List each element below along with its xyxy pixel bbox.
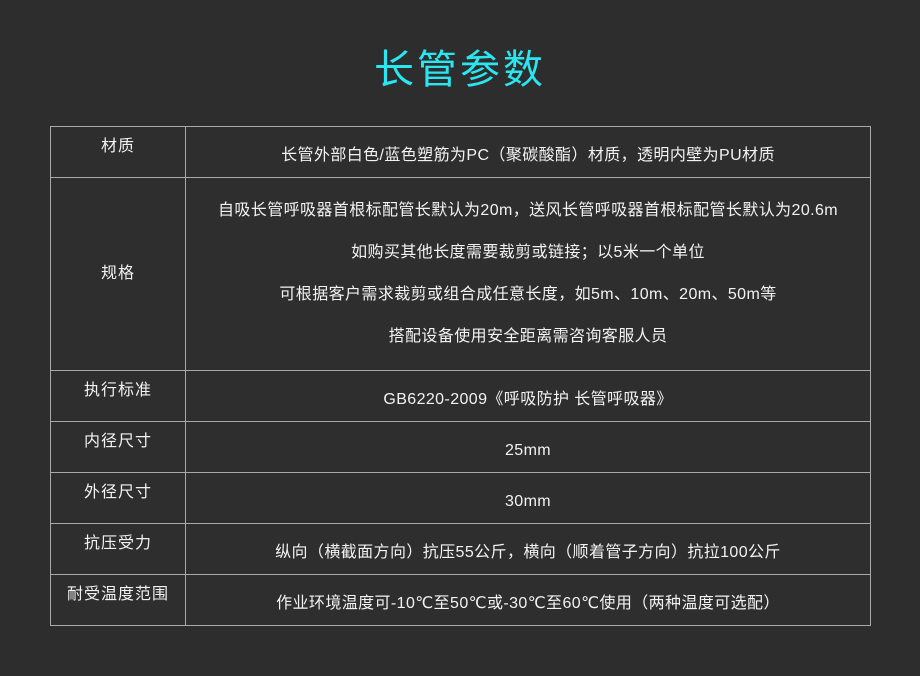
value-line: 如购买其他长度需要裁剪或链接；以5米一个单位: [196, 232, 860, 274]
row-label-cell: 材质: [51, 127, 186, 178]
row-value: 纵向（横截面方向）抗压55公斤，横向（顺着管子方向）抗拉100公斤: [186, 524, 870, 574]
value-line: 长管外部白色/蓝色塑筋为PC（聚碳酸酯）材质，透明内壁为PU材质: [200, 135, 856, 177]
row-value: 作业环境温度可-10℃至50℃或-30℃至60℃使用（两种温度可选配）: [186, 575, 870, 625]
row-value-cell: 30mm: [186, 473, 871, 524]
row-label: 抗压受力: [51, 524, 185, 574]
row-value-cell: GB6220-2009《呼吸防护 长管呼吸器》: [186, 371, 871, 422]
value-line: 搭配设备使用安全距离需咨询客服人员: [196, 316, 860, 358]
row-label: 耐受温度范围: [51, 575, 185, 625]
row-label: 外径尺寸: [51, 473, 185, 523]
row-label-cell: 外径尺寸: [51, 473, 186, 524]
row-value: 长管外部白色/蓝色塑筋为PC（聚碳酸酯）材质，透明内壁为PU材质: [186, 127, 870, 177]
table-row: 外径尺寸 30mm: [51, 473, 871, 524]
table-row: 耐受温度范围 作业环境温度可-10℃至50℃或-30℃至60℃使用（两种温度可选…: [51, 575, 871, 626]
product-spec-page: 长管参数 材质 长管外部白色/蓝色塑筋为PC（聚碳酸酯）材质，透明内壁为PU材质…: [0, 0, 920, 676]
value-line: 纵向（横截面方向）抗压55公斤，横向（顺着管子方向）抗拉100公斤: [200, 532, 856, 574]
row-label: 材质: [51, 127, 185, 177]
value-line: 作业环境温度可-10℃至50℃或-30℃至60℃使用（两种温度可选配）: [200, 583, 856, 625]
row-value: GB6220-2009《呼吸防护 长管呼吸器》: [186, 371, 870, 421]
table-row: 材质 长管外部白色/蓝色塑筋为PC（聚碳酸酯）材质，透明内壁为PU材质: [51, 127, 871, 178]
table-row: 规格 自吸长管呼吸器首根标配管长默认为20m，送风长管呼吸器首根标配管长默认为2…: [51, 178, 871, 371]
row-value-cell: 自吸长管呼吸器首根标配管长默认为20m，送风长管呼吸器首根标配管长默认为20.6…: [186, 178, 871, 371]
row-label-cell: 耐受温度范围: [51, 575, 186, 626]
specification-table: 材质 长管外部白色/蓝色塑筋为PC（聚碳酸酯）材质，透明内壁为PU材质 规格 自…: [50, 126, 871, 626]
value-line: 25mm: [200, 430, 856, 472]
table-row: 执行标准 GB6220-2009《呼吸防护 长管呼吸器》: [51, 371, 871, 422]
row-label-cell: 执行标准: [51, 371, 186, 422]
row-label-cell: 规格: [51, 178, 186, 371]
page-title: 长管参数: [0, 44, 920, 96]
row-label: 执行标准: [51, 371, 185, 421]
value-line: 30mm: [200, 481, 856, 523]
value-line: 可根据客户需求裁剪或组合成任意长度，如5m、10m、20m、50m等: [196, 274, 860, 316]
row-value: 自吸长管呼吸器首根标配管长默认为20m，送风长管呼吸器首根标配管长默认为20.6…: [186, 178, 870, 370]
row-value-cell: 长管外部白色/蓝色塑筋为PC（聚碳酸酯）材质，透明内壁为PU材质: [186, 127, 871, 178]
row-label: 内径尺寸: [51, 422, 185, 472]
row-value-cell: 作业环境温度可-10℃至50℃或-30℃至60℃使用（两种温度可选配）: [186, 575, 871, 626]
row-label-cell: 内径尺寸: [51, 422, 186, 473]
row-value-cell: 25mm: [186, 422, 871, 473]
table-row: 抗压受力 纵向（横截面方向）抗压55公斤，横向（顺着管子方向）抗拉100公斤: [51, 524, 871, 575]
row-label-cell: 抗压受力: [51, 524, 186, 575]
value-line: 自吸长管呼吸器首根标配管长默认为20m，送风长管呼吸器首根标配管长默认为20.6…: [196, 190, 860, 232]
row-label: 规格: [51, 254, 185, 294]
table-body: 材质 长管外部白色/蓝色塑筋为PC（聚碳酸酯）材质，透明内壁为PU材质 规格 自…: [51, 127, 871, 626]
value-line: GB6220-2009《呼吸防护 长管呼吸器》: [200, 379, 856, 421]
table-row: 内径尺寸 25mm: [51, 422, 871, 473]
row-value: 25mm: [186, 422, 870, 472]
row-value-cell: 纵向（横截面方向）抗压55公斤，横向（顺着管子方向）抗拉100公斤: [186, 524, 871, 575]
row-value: 30mm: [186, 473, 870, 523]
